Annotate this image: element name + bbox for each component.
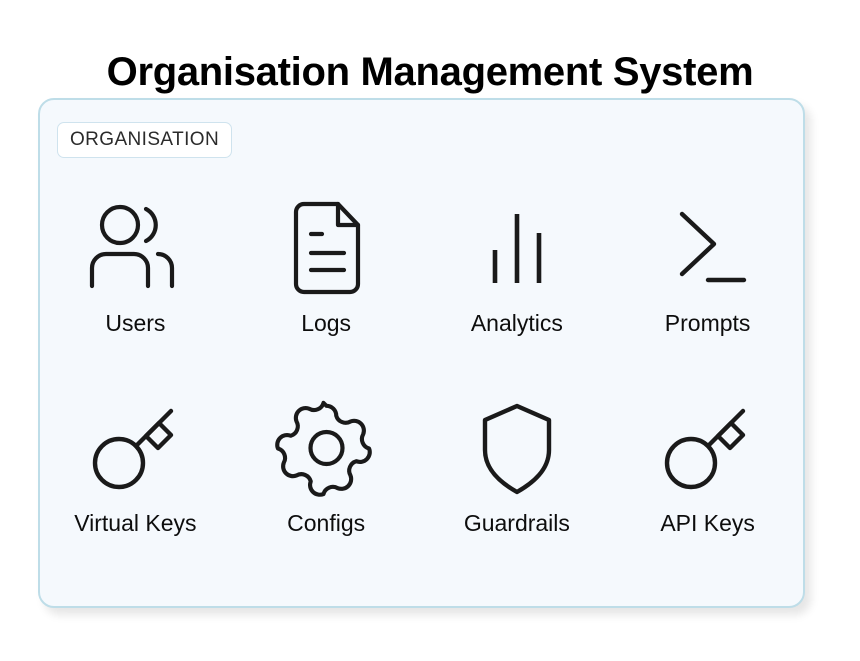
grid-item-analytics[interactable]: Analytics xyxy=(422,188,613,388)
document-lines-icon xyxy=(266,188,386,308)
grid-item-api-keys[interactable]: API Keys xyxy=(612,388,803,588)
key-icon xyxy=(648,388,768,508)
grid-item-users[interactable]: Users xyxy=(40,188,231,388)
grid-item-label: Virtual Keys xyxy=(74,510,196,537)
grid-item-label: Users xyxy=(105,310,165,337)
grid-item-label: Logs xyxy=(301,310,351,337)
grid-item-virtual-keys[interactable]: Virtual Keys xyxy=(40,388,231,588)
icon-row: Users Logs xyxy=(40,188,803,388)
grid-item-guardrails[interactable]: Guardrails xyxy=(422,388,613,588)
terminal-prompt-icon xyxy=(648,188,768,308)
grid-item-label: Analytics xyxy=(471,310,563,337)
gear-icon xyxy=(266,388,386,508)
page-title: Organisation Management System xyxy=(0,47,860,97)
bar-chart-icon xyxy=(457,188,577,308)
grid-item-label: Prompts xyxy=(665,310,751,337)
users-icon xyxy=(75,188,195,308)
grid-item-label: API Keys xyxy=(660,510,755,537)
grid-item-label: Configs xyxy=(287,510,365,537)
organisation-badge: ORGANISATION xyxy=(57,122,232,158)
grid-item-prompts[interactable]: Prompts xyxy=(612,188,803,388)
key-icon xyxy=(75,388,195,508)
icon-row: Virtual Keys Configs xyxy=(40,388,803,588)
organisation-card: ORGANISATION Users xyxy=(38,98,805,608)
shield-icon xyxy=(457,388,577,508)
organisation-badge-label: ORGANISATION xyxy=(70,129,219,151)
grid-item-logs[interactable]: Logs xyxy=(231,188,422,388)
grid-item-configs[interactable]: Configs xyxy=(231,388,422,588)
icon-grid: Users Logs xyxy=(40,188,803,588)
grid-item-label: Guardrails xyxy=(464,510,570,537)
